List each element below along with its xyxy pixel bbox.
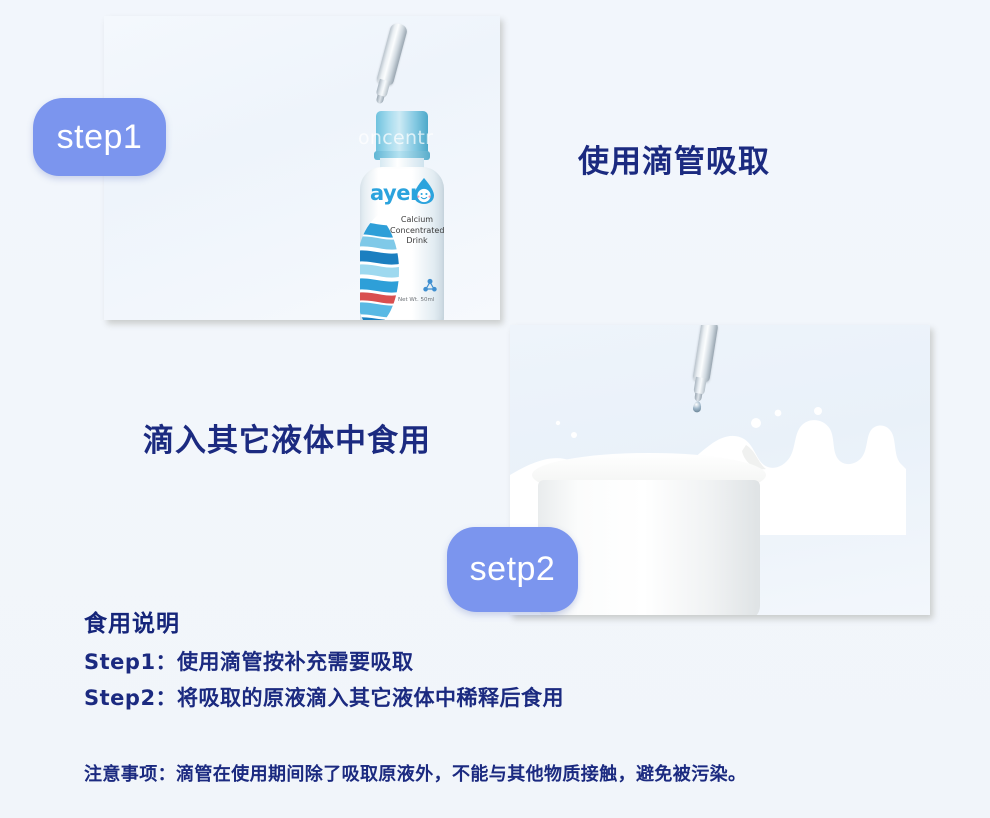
- instructions-step-2: Step2：将吸取的原液滴入其它液体中稀释后食用: [84, 682, 954, 712]
- instructions-block: 食用说明 Step1：使用滴管按补充需要吸取 Step2：将吸取的原液滴入其它液…: [84, 604, 954, 718]
- product-bottle: ayer Calcium Concentrated Drink: [354, 111, 450, 320]
- infographic-page: ayer Calcium Concentrated Drink: [0, 0, 990, 818]
- caption-drop-into-liquid: 滴入其它液体中食用: [143, 415, 431, 460]
- badge-step1[interactable]: step1: [33, 98, 166, 176]
- badge-step2[interactable]: setp2: [447, 527, 578, 612]
- dropper-nib: [376, 95, 385, 105]
- dropper-barrel: [692, 325, 718, 383]
- caption-draw-with-dropper: 使用滴管吸取: [578, 136, 770, 181]
- bottle-body: ayer Calcium Concentrated Drink: [360, 167, 444, 320]
- bottle-cap: [376, 111, 428, 155]
- instructions-title: 食用说明: [84, 604, 954, 638]
- product-label-text: Calcium Concentrated Drink: [390, 215, 444, 247]
- water-drop-baby-logo-icon: [412, 177, 436, 205]
- label-line-calcium: Calcium: [390, 215, 444, 226]
- label-line-drink: Drink: [390, 236, 444, 247]
- instructions-note: 注意事项：滴管在使用期间除了吸取原液外，不能与其他物质接触，避免被污染。: [84, 760, 746, 786]
- instructions-step-1: Step1：使用滴管按补充需要吸取: [84, 646, 954, 676]
- molecule-icon: [422, 277, 438, 293]
- photo-dropper-bottle: ayer Calcium Concentrated Drink: [104, 16, 500, 320]
- dropper-barrel: [376, 22, 408, 86]
- label-line-concentrated: Concentrated: [390, 226, 444, 237]
- net-weight-text: Net Wt. 50ml: [398, 297, 434, 303]
